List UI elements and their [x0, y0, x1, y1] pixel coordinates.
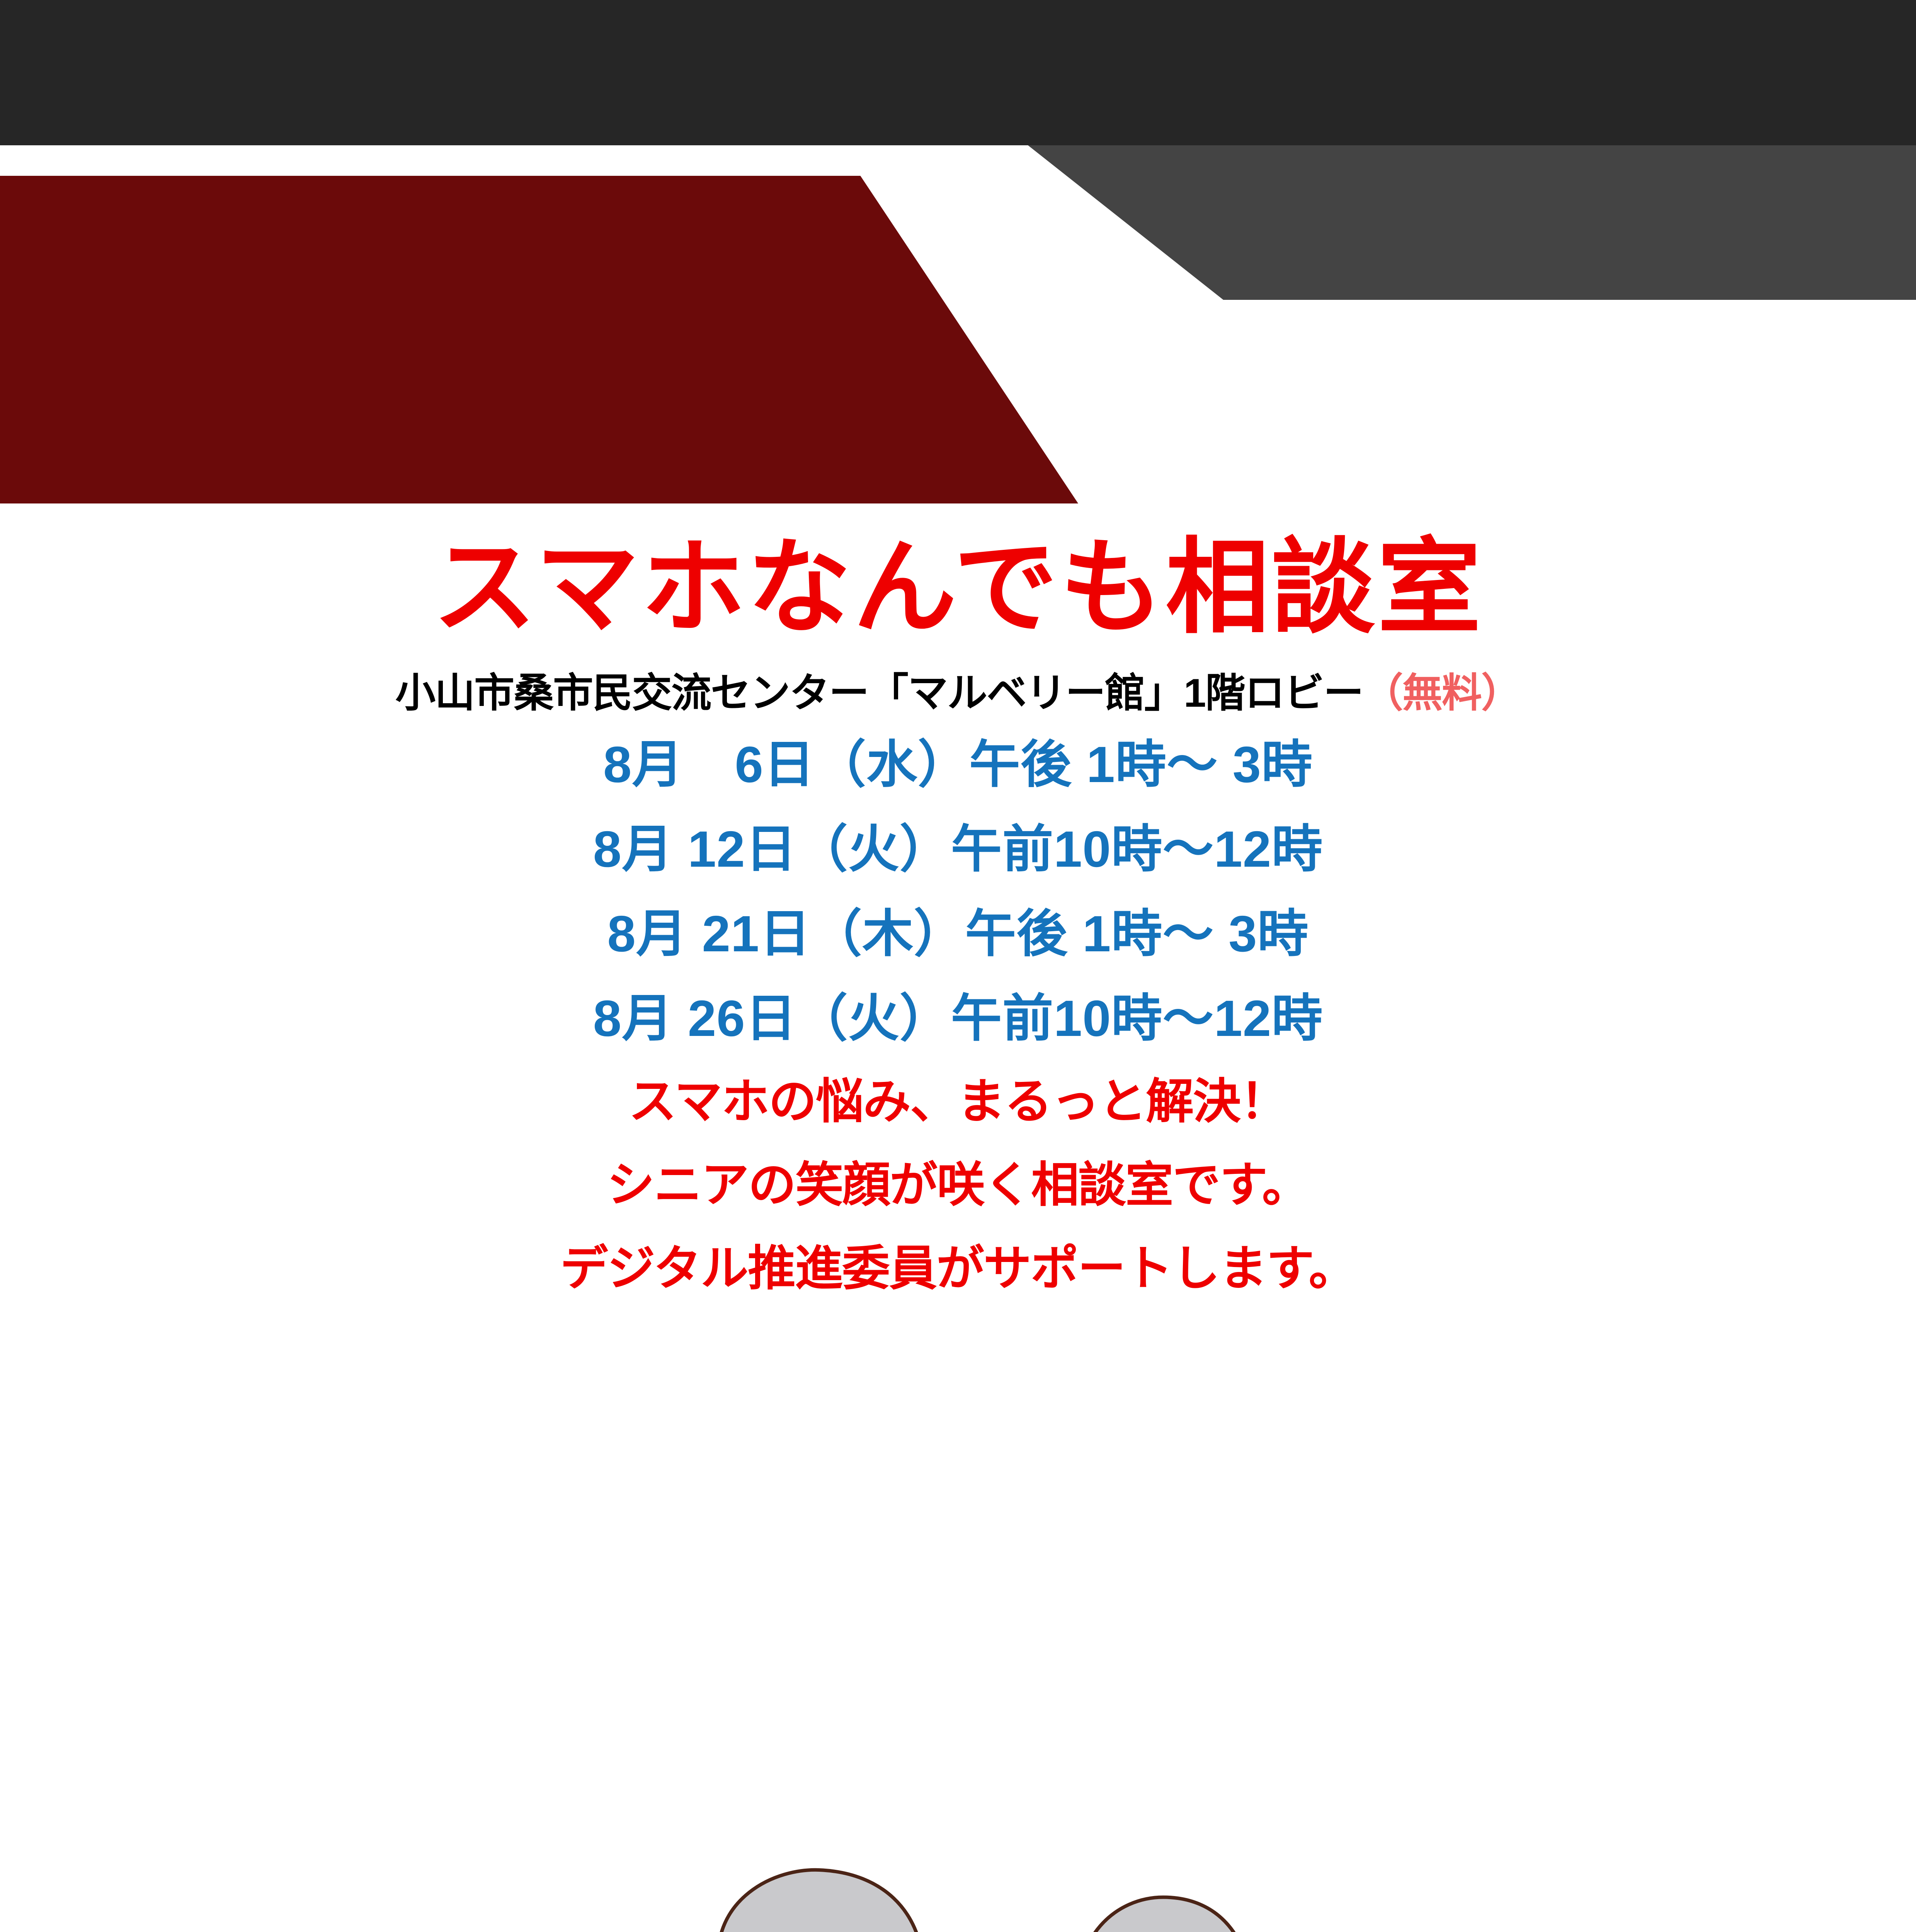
- free-admission-badge: （無料）: [1363, 671, 1521, 716]
- top-gray-parallelogram-decoration: [1028, 145, 1916, 300]
- page-title: スマホなんでも相談室: [0, 529, 1916, 645]
- message-item: デジタル推進委員がサポートします。: [0, 1245, 1916, 1293]
- schedule-item: 8月 6日（水）午後 1時～ 3時: [0, 739, 1916, 790]
- schedule-list: 8月 6日（水）午後 1時～ 3時 8月 12日（火）午前10時～12時 8月 …: [0, 739, 1916, 1044]
- top-dark-red-parallelogram-decoration: [0, 176, 1078, 503]
- message-item: スマホの悩み、まるっと解決！: [0, 1078, 1916, 1126]
- schedule-item: 8月 26日（火）午前10時～12時: [0, 993, 1916, 1044]
- message-list: スマホの悩み、まるっと解決！ シニアの笑顔が咲く相談室です。 デジタル推進委員が…: [0, 1078, 1916, 1293]
- venue-line: 小山市桑市民交流センター「マルベリー館」1階ロビー（無料）: [0, 669, 1916, 718]
- woman-hair: [1077, 1897, 1252, 1932]
- man-hair: [718, 1870, 924, 1932]
- elderly-couple-with-smartphone-illustration: [657, 1839, 1353, 1932]
- schedule-item: 8月 21日（木）午後 1時～ 3時: [0, 908, 1916, 959]
- poster-content: スマホなんでも相談室 小山市桑市民交流センター「マルベリー館」1階ロビー（無料）…: [0, 529, 1916, 1328]
- top-dark-band-decoration: [0, 0, 1916, 145]
- venue-location-text: 小山市桑市民交流センター「マルベリー館」1階ロビー: [395, 671, 1363, 716]
- schedule-item: 8月 12日（火）午前10時～12時: [0, 824, 1916, 875]
- message-item: シニアの笑顔が咲く相談室です。: [0, 1161, 1916, 1209]
- illustration-svg: [657, 1839, 1353, 1932]
- poster-canvas: スマホなんでも相談室 小山市桑市民交流センター「マルベリー館」1階ロビー（無料）…: [0, 0, 1916, 1932]
